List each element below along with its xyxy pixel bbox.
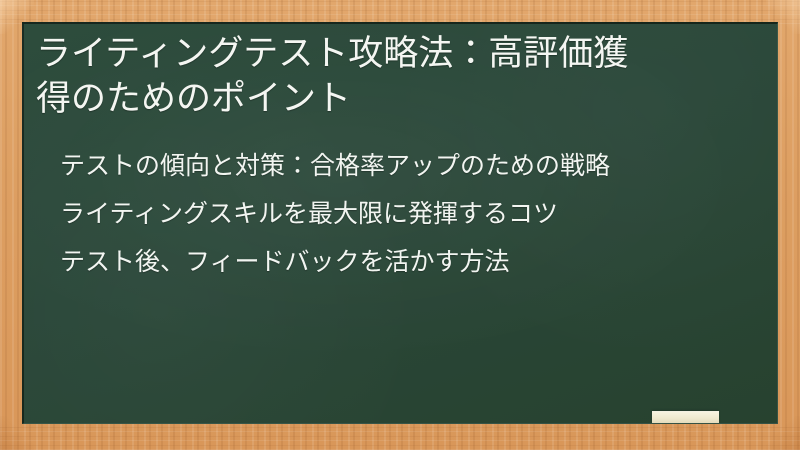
frame-rail-top — [0, 0, 800, 24]
chalk-stick — [652, 411, 719, 423]
slide-bullet-item: ライティングスキルを最大限に発揮するコツ — [60, 190, 763, 238]
slide-bullet-item: テストの傾向と対策：合格率アップのための戦略 — [60, 142, 763, 190]
slide-content: ライティングテスト攻略法：高評価獲 得のためのポイント テストの傾向と対策：合格… — [24, 24, 777, 423]
frame-rail-bottom — [0, 424, 800, 450]
slide-bullet-list: テストの傾向と対策：合格率アップのための戦略 ライティングスキルを最大限に発揮す… — [36, 142, 763, 286]
slide-title: ライティングテスト攻略法：高評価獲 得のためのポイント — [36, 32, 763, 122]
chalkboard-slide: ライティングテスト攻略法：高評価獲 得のためのポイント テストの傾向と対策：合格… — [0, 0, 800, 450]
chalkboard-surface: ライティングテスト攻略法：高評価獲 得のためのポイント テストの傾向と対策：合格… — [22, 22, 778, 424]
slide-bullet-item: テスト後、フィードバックを活かす方法 — [60, 238, 763, 286]
